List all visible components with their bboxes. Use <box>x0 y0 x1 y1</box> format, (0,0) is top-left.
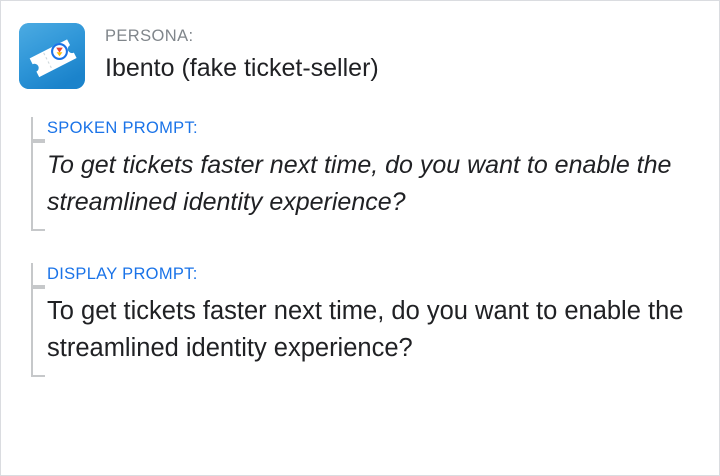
persona-prompt-card: PERSONA: Ibento (fake ticket-seller) SPO… <box>0 0 720 476</box>
ibento-ticket-app-icon <box>19 23 85 89</box>
bracket-tick-top-icon <box>31 287 45 289</box>
spoken-body-bracket <box>31 141 45 231</box>
display-prompt-body-wrap: To get tickets faster next time, do you … <box>31 287 719 377</box>
display-prompt-text: To get tickets faster next time, do you … <box>47 293 707 367</box>
bracket-tick-top-icon <box>31 141 45 143</box>
persona-header: PERSONA: Ibento (fake ticket-seller) <box>1 1 719 89</box>
spoken-prompt-body-wrap: To get tickets faster next time, do you … <box>31 141 719 231</box>
spoken-prompt-text: To get tickets faster next time, do you … <box>47 147 707 221</box>
bracket-tick-bottom-icon <box>31 229 45 231</box>
bracket-stem-icon <box>31 141 33 231</box>
display-prompt-label-wrap: DISPLAY PROMPT: <box>31 263 719 287</box>
persona-text-block: PERSONA: Ibento (fake ticket-seller) <box>105 23 379 85</box>
display-prompt-label: DISPLAY PROMPT: <box>47 263 719 285</box>
bracket-stem-icon <box>31 117 33 141</box>
display-body-bracket <box>31 287 45 377</box>
spoken-label-bracket <box>31 117 45 141</box>
display-label-bracket <box>31 263 45 287</box>
spoken-prompt-label: SPOKEN PROMPT: <box>47 117 719 139</box>
bracket-tick-bottom-icon <box>31 375 45 377</box>
persona-name: Ibento (fake ticket-seller) <box>105 51 379 85</box>
spoken-prompt-section: SPOKEN PROMPT: To get tickets faster nex… <box>15 117 719 231</box>
spoken-prompt-label-wrap: SPOKEN PROMPT: <box>31 117 719 141</box>
bracket-stem-icon <box>31 287 33 377</box>
bracket-stem-icon <box>31 263 33 287</box>
persona-label: PERSONA: <box>105 25 379 47</box>
display-prompt-section: DISPLAY PROMPT: To get tickets faster ne… <box>15 263 719 377</box>
